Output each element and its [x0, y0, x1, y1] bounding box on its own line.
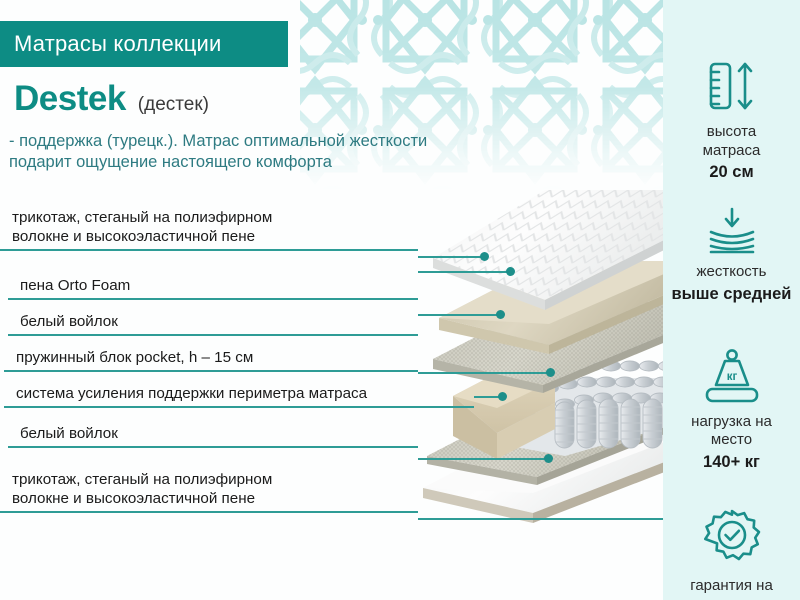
- callout-dot: [496, 310, 505, 319]
- callout-rule: [4, 370, 418, 372]
- spec-height: высота матраса 20 см: [663, 58, 800, 182]
- callout-top-knit-line1: трикотаж, стеганый на полиэфирном: [12, 208, 418, 227]
- callout-orto-foam: пена Orto Foam: [8, 276, 418, 300]
- spec-warranty: гарантия на матрас 25 лет: [663, 508, 800, 600]
- brand-translit: (дестек): [138, 94, 209, 116]
- tagline-line-1: - поддержка (турецк.). Матрас оптимально…: [9, 131, 569, 152]
- weight-icon-unit: кг: [726, 371, 737, 383]
- spec-height-caption-2: матраса: [703, 142, 761, 161]
- product-tagline: - поддержка (турецк.). Матрас оптимально…: [9, 131, 569, 173]
- callout-felt-top: белый войлок: [8, 312, 418, 336]
- callout-rule: [8, 446, 418, 448]
- callout-dot: [544, 454, 553, 463]
- callout-bottom-knit-line1: трикотаж, стеганый на полиэфирном: [12, 470, 418, 489]
- callout-leader: [418, 256, 484, 258]
- callout-dot: [546, 368, 555, 377]
- callout-rule: [0, 511, 418, 513]
- callout-top-knit: трикотаж, стеганый на полиэфирном волокн…: [0, 208, 418, 251]
- weight-kg-icon: кг: [699, 346, 765, 404]
- callout-leader: [418, 314, 500, 316]
- brand-name: Destek: [14, 79, 126, 119]
- callout-felt-bottom-line1: белый войлок: [20, 424, 418, 443]
- spec-firmness: жесткость выше средней: [663, 206, 800, 304]
- callout-dot: [498, 392, 507, 401]
- badge-check-icon: [702, 508, 762, 568]
- collection-banner: Матрасы коллекции: [0, 21, 288, 67]
- callout-rule: [8, 334, 418, 336]
- callout-perimeter-line1: система усиления поддержки периметра мат…: [16, 384, 474, 403]
- callout-felt-top-line1: белый войлок: [20, 312, 418, 331]
- callout-pocket-block-line1: пружинный блок pocket, h – 15 см: [16, 348, 418, 367]
- callout-pocket-block: пружинный блок pocket, h – 15 см: [4, 348, 418, 372]
- callout-top-knit-line2: волокне и высокоэластичной пене: [12, 227, 418, 246]
- callout-rule: [4, 406, 474, 408]
- spec-load-caption-1: нагрузка на: [691, 413, 772, 432]
- product-infographic: Матрасы коллекции Destek (дестек) - подд…: [0, 0, 800, 600]
- brand-title: Destek (дестек): [14, 79, 209, 119]
- spec-firmness-value: выше средней: [672, 284, 792, 304]
- ruler-arrow-icon: [701, 58, 763, 114]
- callout-orto-foam-line1: пена Orto Foam: [20, 276, 418, 295]
- spec-height-caption-1: высота: [703, 123, 761, 142]
- callout-rule: [8, 298, 418, 300]
- callout-felt-bottom: белый войлок: [8, 424, 418, 448]
- callout-perimeter: система усиления поддержки периметра мат…: [4, 384, 474, 408]
- tagline-line-2: подарит ощущение настоящего комфорта: [9, 152, 569, 173]
- spec-warranty-caption-2: матрас: [690, 595, 773, 600]
- callout-bottom-knit: трикотаж, стеганый на полиэфирном волокн…: [0, 470, 418, 513]
- callout-dot: [506, 267, 515, 276]
- spec-load-caption-2: место: [691, 431, 772, 450]
- spec-load-value: 140+ кг: [703, 452, 760, 472]
- press-waves-icon: [701, 206, 763, 254]
- banner-label: Матрасы коллекции: [0, 31, 222, 57]
- callout-dot: [480, 252, 489, 261]
- spec-warranty-caption-1: гарантия на: [690, 577, 773, 596]
- callout-rule: [0, 249, 418, 251]
- spec-sidebar: высота матраса 20 см жесткость выше с: [663, 0, 800, 600]
- spec-firmness-caption-1: жесткость: [696, 263, 766, 282]
- spec-load: кг нагрузка на место 140+ кг: [663, 346, 800, 472]
- mattress-cutaway-illustration: [415, 188, 680, 528]
- spec-height-value: 20 см: [709, 162, 753, 182]
- callout-leader: [418, 518, 663, 520]
- callout-leader: [418, 458, 548, 460]
- callout-leader: [418, 271, 510, 273]
- callout-bottom-knit-line2: волокне и высокоэластичной пене: [12, 489, 418, 508]
- callout-leader: [418, 372, 550, 374]
